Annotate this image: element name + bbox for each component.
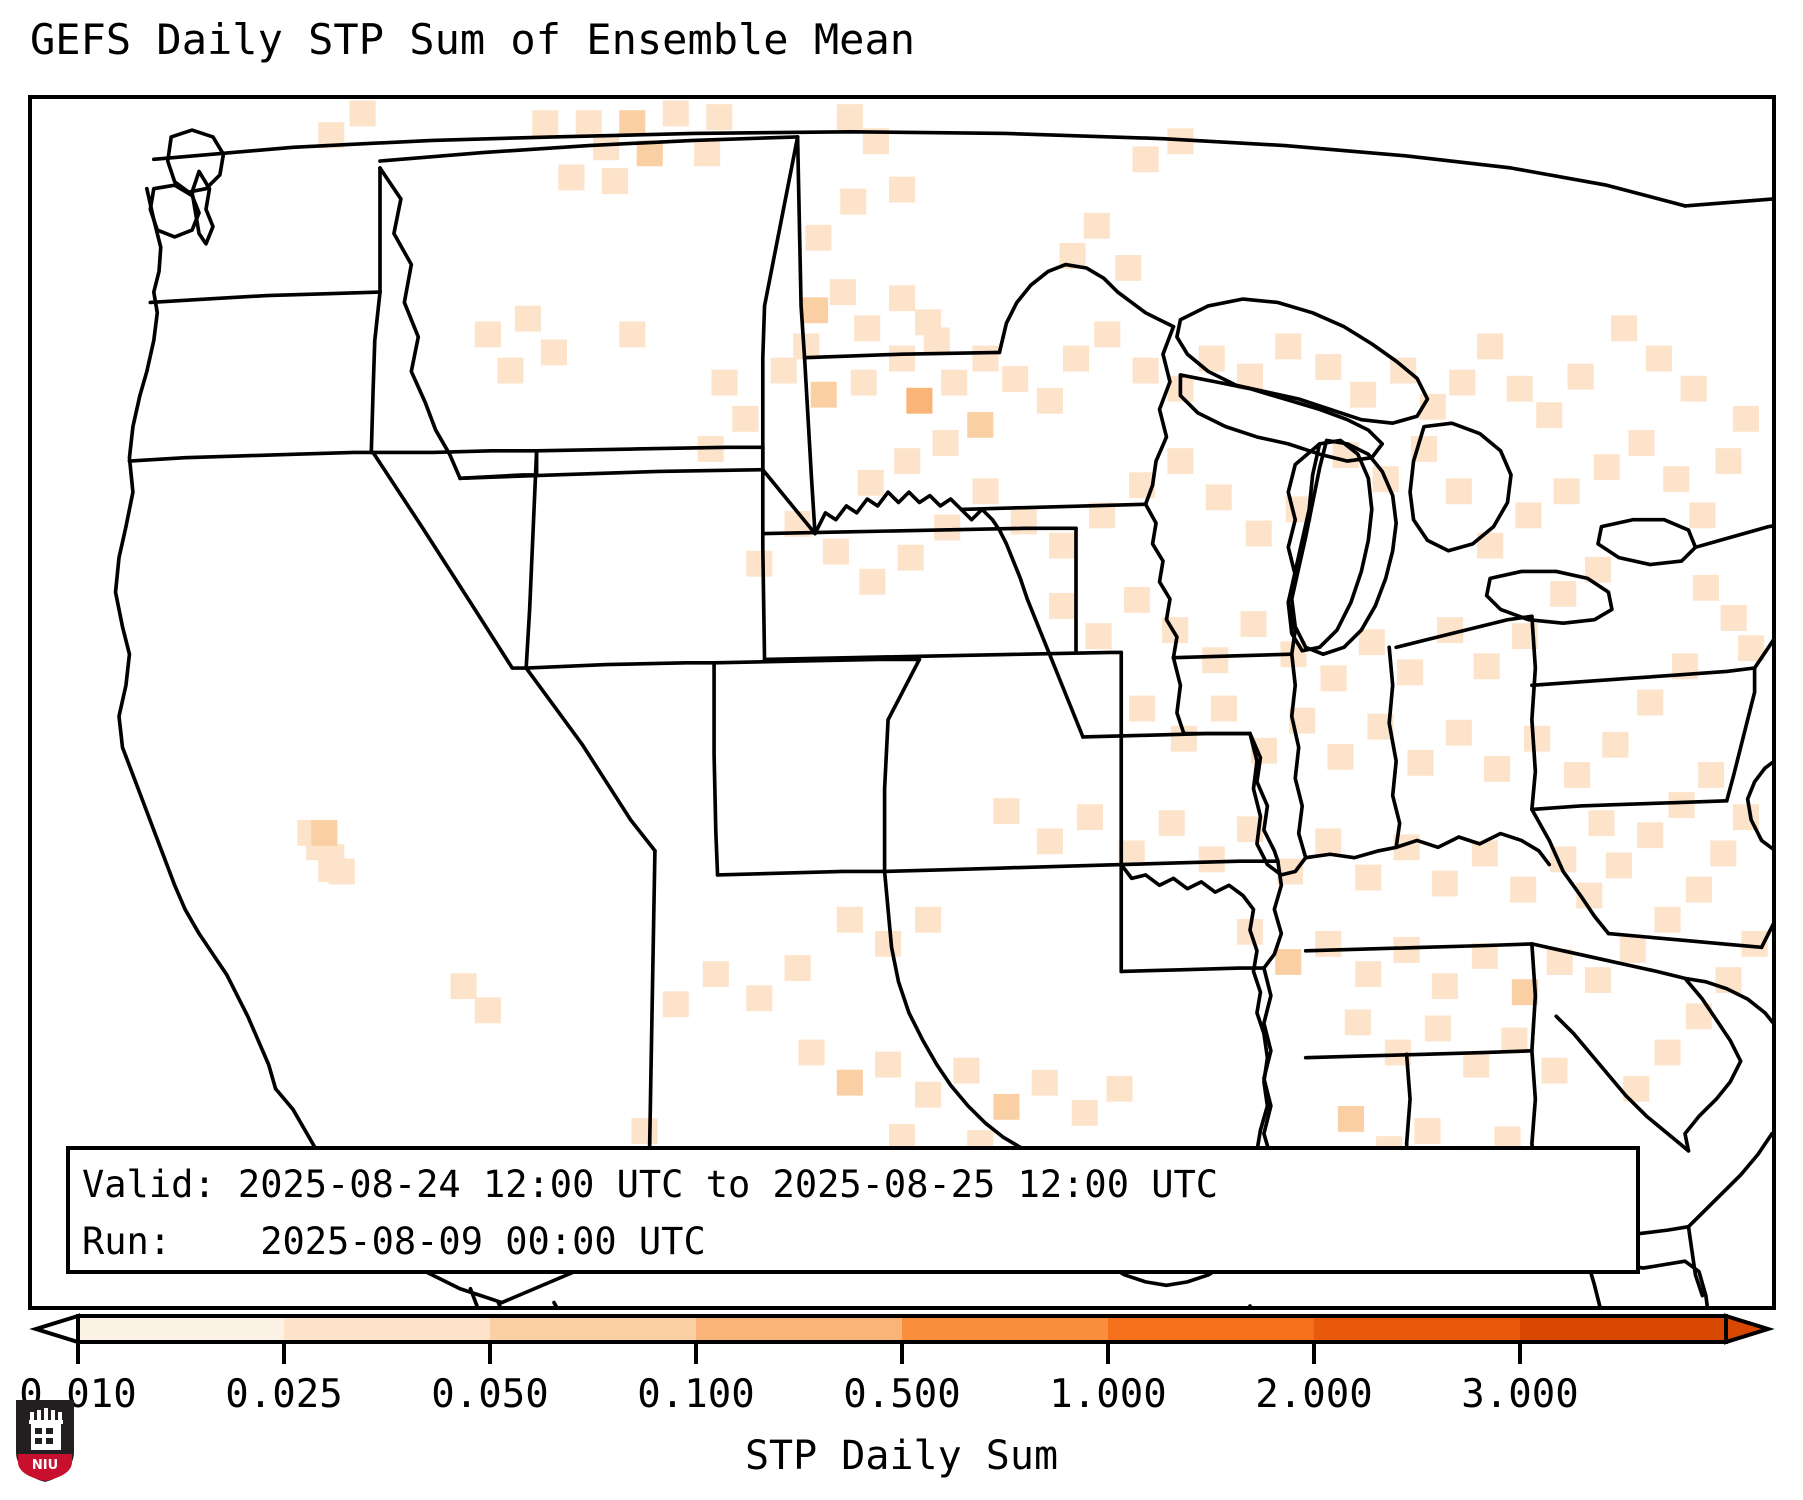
colorbar-tick-label: 1.000 bbox=[1049, 1372, 1166, 1418]
lake-erie bbox=[1487, 571, 1612, 623]
weather-map-page: GEFS Daily STP Sum of Ensemble Mean bbox=[0, 0, 1803, 1500]
michigan-lower-peninsula bbox=[1292, 440, 1396, 654]
pa-east bbox=[1727, 668, 1755, 801]
md-de-chesapeake bbox=[1748, 751, 1772, 841]
wi-il-border bbox=[1173, 654, 1291, 657]
il-in-border bbox=[1292, 654, 1306, 857]
colorbar-tick-label: 0.050 bbox=[431, 1372, 548, 1418]
quebec-north bbox=[1685, 196, 1772, 230]
geography-layer bbox=[32, 99, 1772, 1306]
ne-ia-border bbox=[815, 492, 961, 533]
tx-ok-red-river bbox=[1121, 865, 1264, 1034]
tn-east bbox=[1532, 944, 1535, 1051]
logo-text: NIU bbox=[32, 1458, 58, 1473]
map-frame bbox=[28, 95, 1776, 1310]
canada-border bbox=[154, 132, 1685, 206]
ny-hudson bbox=[1755, 544, 1772, 668]
nv-ca-border bbox=[373, 452, 526, 668]
or-id-border bbox=[371, 292, 380, 452]
ne-sd-mo-river bbox=[961, 509, 1083, 737]
or-ca-nv-border bbox=[129, 452, 373, 461]
colorbar-segment bbox=[1520, 1316, 1727, 1342]
nv-ut-border bbox=[526, 451, 536, 668]
ar-la-border bbox=[1121, 968, 1264, 971]
tx-ok-border bbox=[885, 865, 1122, 872]
pa-md-border bbox=[1532, 801, 1727, 810]
run-time-line: Run: 2025-08-09 00:00 UTC bbox=[82, 1213, 1636, 1270]
colorbar-tick-label: 3.000 bbox=[1461, 1372, 1578, 1418]
wa-or-border bbox=[150, 292, 380, 302]
nd-sd-border bbox=[798, 137, 805, 358]
map-canvas bbox=[32, 99, 1772, 1306]
mexico-mainland-coast bbox=[554, 1303, 808, 1306]
in-ky-border bbox=[1306, 847, 1396, 857]
colorbar-under-arrow bbox=[36, 1316, 78, 1342]
tn-ms-al-border bbox=[1306, 1051, 1532, 1058]
nd-mn-line bbox=[805, 352, 1000, 357]
page-title: GEFS Daily STP Sum of Ensemble Mean bbox=[30, 14, 915, 66]
nc-coast bbox=[1685, 978, 1772, 1030]
ky-va-border bbox=[1532, 809, 1609, 933]
atlantic-coast-se bbox=[1688, 1134, 1772, 1227]
pacific-coast bbox=[116, 189, 276, 1089]
colorbar-tick-label: 0.100 bbox=[637, 1372, 754, 1418]
colorbar-swatches bbox=[28, 1310, 1776, 1370]
va-coast bbox=[1762, 840, 1772, 947]
colorbar-tick-labels: 0.0100.0250.0500.1000.5001.0002.0003.000 bbox=[28, 1372, 1776, 1422]
colorbar-segment bbox=[78, 1316, 285, 1342]
colorbar-over-arrow bbox=[1726, 1316, 1768, 1342]
wy-co-border bbox=[763, 137, 798, 470]
va-nc-border bbox=[1608, 934, 1761, 948]
mo-ar-border bbox=[1121, 861, 1278, 864]
tn-nc-border bbox=[1532, 944, 1685, 978]
in-oh-border bbox=[1389, 647, 1399, 847]
colorbar-segment bbox=[284, 1316, 491, 1342]
id-mt-border bbox=[380, 168, 460, 478]
fl-ga-border bbox=[1688, 1227, 1702, 1296]
baja-east-coast bbox=[498, 1303, 644, 1306]
ky-tn-border bbox=[1306, 944, 1532, 951]
lake-ontario bbox=[1598, 520, 1695, 565]
ut-az-border bbox=[526, 663, 714, 668]
colorbar-segment bbox=[490, 1316, 697, 1342]
sd-ne-border bbox=[805, 358, 815, 534]
ny-north bbox=[1695, 523, 1772, 551]
texas-outline bbox=[885, 871, 1038, 1154]
oh-river bbox=[1396, 834, 1549, 865]
pa-ny-border bbox=[1532, 668, 1755, 685]
wy-sd-line bbox=[763, 470, 815, 534]
ar-east-river bbox=[1264, 861, 1281, 968]
az-nm-border bbox=[714, 663, 717, 875]
valid-time-line: Valid: 2025-08-24 12:00 UTC to 2025-08-2… bbox=[82, 1156, 1636, 1213]
colorbar-axis-label: STP Daily Sum bbox=[0, 1432, 1803, 1480]
colorbar-segment bbox=[696, 1316, 903, 1342]
nm-tx-border bbox=[718, 659, 920, 875]
az-ca-border bbox=[526, 668, 655, 851]
ks-ok-border bbox=[765, 652, 1122, 659]
mn-wi-river bbox=[1146, 327, 1174, 505]
lake-michigan bbox=[1288, 440, 1372, 650]
ia-il-east bbox=[1173, 658, 1250, 734]
niu-logo: NIU bbox=[14, 1398, 76, 1484]
colorbar-segment bbox=[1108, 1316, 1315, 1342]
colorbar-tick-label: 0.500 bbox=[843, 1372, 960, 1418]
oh-north-lake bbox=[1396, 616, 1532, 647]
colorbar-segment bbox=[1314, 1316, 1521, 1342]
lake-huron bbox=[1410, 423, 1511, 551]
colorbar bbox=[28, 1310, 1776, 1370]
id-nv-ut-border bbox=[371, 451, 536, 453]
colorbar-tick-label: 2.000 bbox=[1255, 1372, 1372, 1418]
sc-nc-border bbox=[1685, 978, 1741, 1150]
mn-ia-border bbox=[961, 504, 1145, 509]
ia-il-river bbox=[1146, 504, 1177, 657]
colorbar-tick-label: 0.025 bbox=[225, 1372, 342, 1418]
ga-sc-border bbox=[1556, 1016, 1688, 1150]
ut-co-border bbox=[537, 447, 763, 450]
info-box: Valid: 2025-08-24 12:00 UTC to 2025-08-2… bbox=[66, 1146, 1640, 1274]
oh-pa-border bbox=[1532, 616, 1535, 809]
mn-outline-north bbox=[999, 265, 1173, 353]
co-ks-border bbox=[763, 447, 765, 659]
colorbar-segment bbox=[902, 1316, 1109, 1342]
